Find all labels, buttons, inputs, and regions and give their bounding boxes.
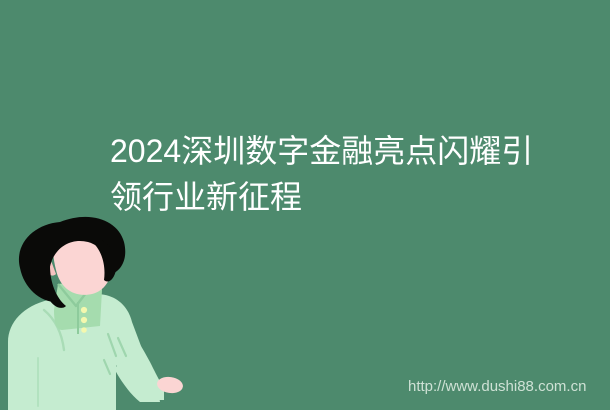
person-illustration	[0, 210, 200, 410]
collar-button-icon	[81, 307, 87, 313]
title-line-2: 领行业新征程	[110, 174, 540, 220]
watermark-url: http://www.dushi88.com.cn	[408, 378, 586, 396]
promo-banner: 2024深圳数字金融亮点闪耀引 领行业新征程 http://www.dushi8…	[0, 0, 610, 410]
title-line-1: 2024深圳数字金融亮点闪耀引	[110, 128, 540, 174]
banner-title: 2024深圳数字金融亮点闪耀引 领行业新征程	[110, 128, 540, 220]
sweater-left-edge-shape	[8, 304, 46, 410]
collar-button-icon	[81, 327, 87, 333]
collar-button-icon	[81, 317, 87, 323]
